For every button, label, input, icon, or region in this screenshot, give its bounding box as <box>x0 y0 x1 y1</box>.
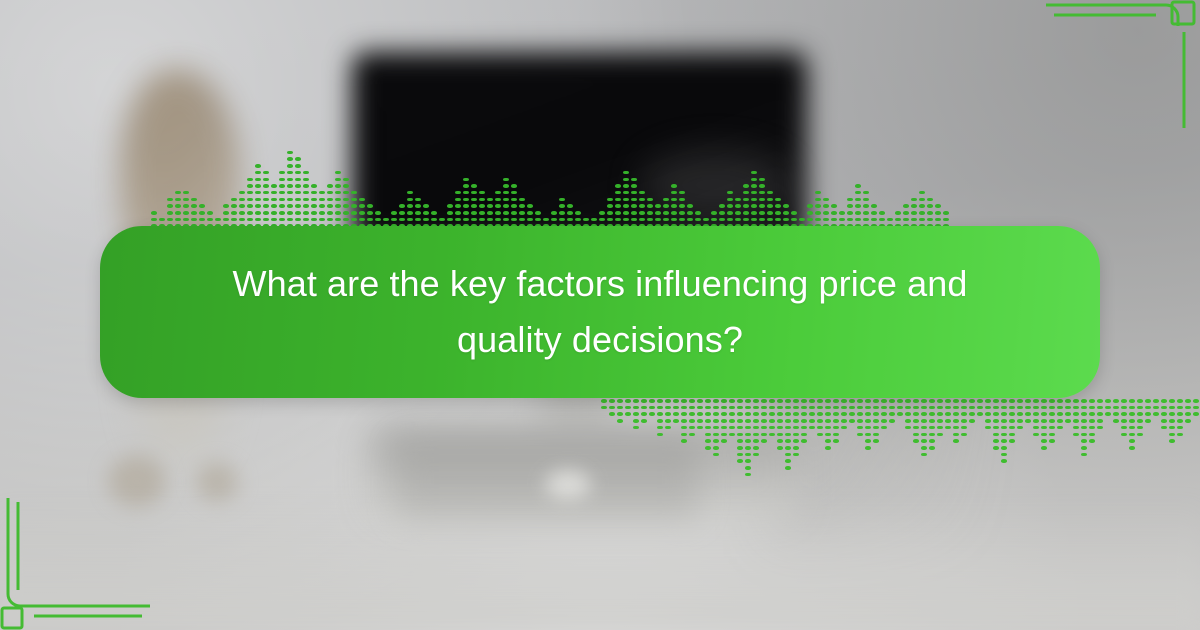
waveform-dot <box>745 426 751 430</box>
waveform-dot <box>681 426 687 430</box>
waveform-dot <box>961 399 967 403</box>
waveform-dot <box>255 198 261 202</box>
waveform-dot <box>623 198 629 202</box>
waveform-dot <box>663 204 669 208</box>
waveform-dot <box>681 433 687 437</box>
waveform-dot <box>1137 433 1143 437</box>
waveform-dot <box>343 191 349 195</box>
waveform-dot <box>793 412 799 416</box>
waveform-dot <box>511 198 517 202</box>
waveform-dot <box>665 412 671 416</box>
waveform-bar <box>1088 396 1096 443</box>
waveform-dot <box>335 218 341 222</box>
waveform-bar <box>1056 396 1064 429</box>
waveform-dot <box>1017 406 1023 410</box>
waveform-dot <box>897 406 903 410</box>
waveform-dot <box>671 204 677 208</box>
waveform-dot <box>745 473 751 477</box>
waveform-dot <box>769 419 775 423</box>
waveform-dot <box>1089 406 1095 410</box>
background-floor <box>0 500 1200 630</box>
waveform-dot <box>919 204 925 208</box>
waveform-dot <box>295 164 301 168</box>
waveform-bar <box>664 396 672 429</box>
waveform-dot <box>785 419 791 423</box>
waveform-dot <box>447 204 453 208</box>
question-card: What are the key factors influencing pri… <box>100 226 1100 398</box>
waveform-dot <box>873 439 879 443</box>
waveform-dot <box>575 211 581 215</box>
waveform-dot <box>831 211 837 215</box>
waveform-dot <box>479 198 485 202</box>
waveform-dot <box>511 218 517 222</box>
waveform-dot <box>175 211 181 215</box>
waveform-dot <box>809 406 815 410</box>
waveform-dot <box>831 204 837 208</box>
waveform-dot <box>727 204 733 208</box>
waveform-dot <box>399 211 405 215</box>
waveform-dot <box>199 211 205 215</box>
waveform-dot <box>745 466 751 470</box>
waveform-dot <box>871 218 877 222</box>
waveform-dot <box>921 419 927 423</box>
waveform-dot <box>785 433 791 437</box>
waveform-dot <box>287 204 293 208</box>
waveform-dot <box>263 211 269 215</box>
waveform-dot <box>335 204 341 208</box>
waveform-dot <box>1001 453 1007 457</box>
waveform-dot <box>641 399 647 403</box>
waveform-dot <box>367 218 373 222</box>
waveform-dot <box>953 412 959 416</box>
waveform-bar <box>880 396 888 429</box>
waveform-dot <box>753 439 759 443</box>
waveform-dot <box>751 204 757 208</box>
waveform-dot <box>985 406 991 410</box>
waveform-dot <box>255 211 261 215</box>
waveform-dot <box>767 191 773 195</box>
waveform-dot <box>255 164 261 168</box>
waveform-dot <box>609 412 615 416</box>
waveform-dot <box>631 211 637 215</box>
waveform-dot <box>607 211 613 215</box>
waveform-bar <box>816 396 824 436</box>
waveform-dot <box>239 191 245 195</box>
waveform-dot <box>351 198 357 202</box>
waveform-dot <box>319 191 325 195</box>
waveform-dot <box>1089 419 1095 423</box>
waveform-dot <box>527 218 533 222</box>
waveform-bar <box>254 164 262 231</box>
waveform-dot <box>841 426 847 430</box>
waveform-dot <box>1105 399 1111 403</box>
waveform-bar <box>1128 396 1136 450</box>
waveform-dot <box>575 218 581 222</box>
waveform-dot <box>737 459 743 463</box>
waveform-dot <box>1049 419 1055 423</box>
waveform-dot <box>777 419 783 423</box>
waveform-dot <box>985 426 991 430</box>
waveform-dot <box>335 198 341 202</box>
waveform-dot <box>657 419 663 423</box>
waveform-dot <box>857 412 863 416</box>
waveform-dot <box>919 191 925 195</box>
waveform-dot <box>681 419 687 423</box>
waveform-dot <box>945 419 951 423</box>
waveform-dot <box>801 433 807 437</box>
waveform-dot <box>311 204 317 208</box>
waveform-dot <box>881 419 887 423</box>
waveform-dot <box>271 204 277 208</box>
waveform-dot <box>695 211 701 215</box>
waveform-dot <box>463 218 469 222</box>
waveform-dot <box>745 453 751 457</box>
waveform-bar <box>624 396 632 416</box>
waveform-dot <box>785 459 791 463</box>
waveform-dot <box>969 412 975 416</box>
waveform-dot <box>327 218 333 222</box>
waveform-dot <box>785 466 791 470</box>
waveform-dot <box>687 204 693 208</box>
waveform-dot <box>865 439 871 443</box>
waveform-dot <box>759 218 765 222</box>
waveform-bar <box>1096 396 1104 429</box>
waveform-dot <box>617 406 623 410</box>
waveform-dot <box>623 184 629 188</box>
waveform-dot <box>463 191 469 195</box>
waveform-bar <box>318 191 326 231</box>
waveform-dot <box>777 406 783 410</box>
waveform-dot <box>231 204 237 208</box>
waveform-dot <box>807 218 813 222</box>
waveform-bar <box>680 396 688 443</box>
waveform-dot <box>319 198 325 202</box>
waveform-dot <box>375 211 381 215</box>
waveform-dot <box>905 412 911 416</box>
waveform-dot <box>871 211 877 215</box>
waveform-dot <box>655 204 661 208</box>
waveform-dot <box>279 184 285 188</box>
waveform-dot <box>1049 433 1055 437</box>
waveform-dot <box>287 211 293 215</box>
waveform-dot <box>1081 399 1087 403</box>
waveform-dot <box>935 218 941 222</box>
waveform-dot <box>1001 399 1007 403</box>
waveform-dot <box>847 211 853 215</box>
waveform-dot <box>809 426 815 430</box>
waveform-dot <box>801 399 807 403</box>
waveform-dot <box>615 191 621 195</box>
waveform-dot <box>977 399 983 403</box>
waveform-bar <box>1040 396 1048 450</box>
waveform-dot <box>929 399 935 403</box>
waveform-bar <box>656 396 664 436</box>
waveform-dot <box>705 406 711 410</box>
waveform-dot <box>689 426 695 430</box>
waveform-dot <box>1081 412 1087 416</box>
waveform-dot <box>1145 406 1151 410</box>
waveform-dot <box>759 204 765 208</box>
waveform-dot <box>833 412 839 416</box>
waveform-dot <box>961 406 967 410</box>
waveform-dot <box>415 211 421 215</box>
waveform-dot <box>1041 412 1047 416</box>
waveform-dot <box>1177 412 1183 416</box>
waveform-dot <box>311 211 317 215</box>
waveform-dot <box>783 218 789 222</box>
waveform-dot <box>271 218 277 222</box>
waveform-dot <box>1129 406 1135 410</box>
waveform-dot <box>689 406 695 410</box>
waveform-dot <box>921 453 927 457</box>
waveform-dot <box>727 211 733 215</box>
waveform-dot <box>239 204 245 208</box>
waveform-dot <box>633 419 639 423</box>
waveform-dot <box>1033 426 1039 430</box>
waveform-dot <box>849 399 855 403</box>
waveform-dot <box>591 218 597 222</box>
waveform-dot <box>1185 406 1191 410</box>
waveform-dot <box>767 204 773 208</box>
waveform-dot <box>985 412 991 416</box>
waveform-dot <box>535 211 541 215</box>
waveform-dot <box>495 191 501 195</box>
waveform-bar <box>920 396 928 456</box>
waveform-dot <box>903 218 909 222</box>
waveform-dot <box>817 412 823 416</box>
waveform-bar <box>350 191 358 231</box>
waveform-dot <box>1137 399 1143 403</box>
waveform-dot <box>743 211 749 215</box>
waveform-dot <box>263 218 269 222</box>
waveform-dot <box>825 419 831 423</box>
waveform-dot <box>407 198 413 202</box>
waveform-dot <box>327 191 333 195</box>
waveform-dot <box>903 204 909 208</box>
waveform-dot <box>1049 399 1055 403</box>
waveform-dot <box>993 406 999 410</box>
waveform-dot <box>727 218 733 222</box>
waveform-dot <box>895 211 901 215</box>
question-line-1: What are the key factors influencing pri… <box>233 263 968 304</box>
waveform-bar <box>616 396 624 423</box>
waveform-dot <box>737 419 743 423</box>
waveform-dot <box>1169 426 1175 430</box>
waveform-dot <box>673 419 679 423</box>
waveform-dot <box>247 184 253 188</box>
waveform-dot <box>753 406 759 410</box>
waveform-dot <box>759 178 765 182</box>
waveform-bar <box>262 171 270 231</box>
waveform-dot <box>657 433 663 437</box>
waveform-dot <box>831 218 837 222</box>
waveform-bar <box>670 184 678 231</box>
waveform-dot <box>751 191 757 195</box>
waveform-dot <box>159 218 165 222</box>
waveform-dot <box>447 218 453 222</box>
waveform-dot <box>793 426 799 430</box>
waveform-dot <box>881 399 887 403</box>
waveform-dot <box>511 204 517 208</box>
waveform-dot <box>705 399 711 403</box>
waveform-dot <box>745 412 751 416</box>
waveform-dot <box>287 191 293 195</box>
waveform-dot <box>897 412 903 416</box>
waveform-dot <box>327 211 333 215</box>
waveform-dot <box>735 211 741 215</box>
waveform-bar <box>302 171 310 231</box>
waveform-dot <box>279 178 285 182</box>
waveform-bar <box>768 396 776 436</box>
waveform-dot <box>287 164 293 168</box>
waveform-dot <box>705 419 711 423</box>
waveform-dot <box>735 204 741 208</box>
waveform-dot <box>679 198 685 202</box>
waveform-dot <box>1169 439 1175 443</box>
waveform-dot <box>1073 426 1079 430</box>
waveform-dot <box>823 198 829 202</box>
waveform-dot <box>431 218 437 222</box>
waveform-dot <box>175 204 181 208</box>
waveform-bar <box>640 396 648 423</box>
waveform-dot <box>343 211 349 215</box>
waveform-bar <box>648 396 656 416</box>
waveform-dot <box>319 218 325 222</box>
waveform-bar <box>342 178 350 232</box>
waveform-dot <box>1169 433 1175 437</box>
waveform-dot <box>295 157 301 161</box>
waveform-dot <box>279 171 285 175</box>
waveform-bar <box>1072 396 1080 436</box>
waveform-dot <box>303 218 309 222</box>
waveform-dot <box>985 419 991 423</box>
waveform-dot <box>873 419 879 423</box>
waveform-dot <box>785 453 791 457</box>
waveform-dot <box>919 218 925 222</box>
waveform-dot <box>519 204 525 208</box>
waveform-dot <box>511 184 517 188</box>
waveform-dot <box>615 198 621 202</box>
waveform-dot <box>679 191 685 195</box>
waveform-dot <box>833 433 839 437</box>
waveform-dot <box>705 446 711 450</box>
waveform-dot <box>247 191 253 195</box>
waveform-dot <box>969 406 975 410</box>
waveform-dot <box>503 218 509 222</box>
waveform-dot <box>1161 426 1167 430</box>
waveform-dot <box>231 211 237 215</box>
waveform-dot <box>1137 419 1143 423</box>
waveform-dot <box>743 204 749 208</box>
waveform-bar <box>976 396 984 416</box>
waveform-dot <box>721 406 727 410</box>
waveform-dot <box>633 426 639 430</box>
waveform-dot <box>1049 412 1055 416</box>
waveform-dot <box>977 406 983 410</box>
waveform-dot <box>1121 399 1127 403</box>
waveform-bar <box>1176 396 1184 436</box>
waveform-dot <box>471 218 477 222</box>
waveform-dot <box>785 426 791 430</box>
waveform-dot <box>847 198 853 202</box>
waveform-dot <box>745 406 751 410</box>
waveform-dot <box>671 211 677 215</box>
waveform-dot <box>1073 419 1079 423</box>
waveform-dot <box>279 191 285 195</box>
waveform-dot <box>657 426 663 430</box>
waveform-dot <box>487 198 493 202</box>
waveform-bar <box>630 178 638 232</box>
waveform-bar <box>704 396 712 450</box>
waveform-dot <box>1009 406 1015 410</box>
waveform-bar <box>278 171 286 231</box>
waveform-bar <box>952 396 960 443</box>
waveform-bar <box>856 396 864 436</box>
waveform-dot <box>1009 433 1015 437</box>
waveform-dot <box>487 218 493 222</box>
waveform-dot <box>559 218 565 222</box>
waveform-dot <box>1025 412 1031 416</box>
waveform-dot <box>953 439 959 443</box>
waveform-dot <box>1009 419 1015 423</box>
waveform-dot <box>1025 399 1031 403</box>
waveform-dot <box>1009 399 1015 403</box>
waveform-dot <box>929 433 935 437</box>
waveform-dot <box>839 218 845 222</box>
waveform-dot <box>825 433 831 437</box>
waveform-bar <box>1000 396 1008 463</box>
waveform-dot <box>311 191 317 195</box>
waveform-dot <box>279 218 285 222</box>
waveform-dot <box>865 399 871 403</box>
waveform-dot <box>943 218 949 222</box>
waveform-dot <box>1017 426 1023 430</box>
waveform-dot <box>857 426 863 430</box>
waveform-bar <box>454 191 462 231</box>
waveform-dot <box>607 204 613 208</box>
waveform-dot <box>151 218 157 222</box>
waveform-bar <box>862 191 870 231</box>
waveform-dot <box>665 426 671 430</box>
waveform-dot <box>777 399 783 403</box>
waveform-bar <box>888 396 896 423</box>
waveform-dot <box>471 191 477 195</box>
waveform-dot <box>183 204 189 208</box>
waveform-bar <box>760 396 768 443</box>
waveform-dot <box>671 184 677 188</box>
waveform-dot <box>1193 399 1199 403</box>
waveform-dot <box>1049 406 1055 410</box>
waveform-dot <box>1041 399 1047 403</box>
waveform-bar <box>814 191 822 231</box>
waveform-bar <box>992 396 1000 450</box>
waveform-dot <box>953 399 959 403</box>
waveform-dot <box>263 204 269 208</box>
waveform-dot <box>729 406 735 410</box>
waveform-dot <box>897 399 903 403</box>
waveform-dot <box>879 218 885 222</box>
waveform-dot <box>817 419 823 423</box>
waveform-dot <box>623 218 629 222</box>
waveform-dot <box>919 198 925 202</box>
waveform-dot <box>1105 406 1111 410</box>
waveform-dot <box>911 204 917 208</box>
question-line-2: quality decisions? <box>457 319 743 360</box>
waveform-dot <box>471 204 477 208</box>
waveform-dot <box>1033 419 1039 423</box>
waveform-dot <box>1033 433 1039 437</box>
waveform-dot <box>623 211 629 215</box>
